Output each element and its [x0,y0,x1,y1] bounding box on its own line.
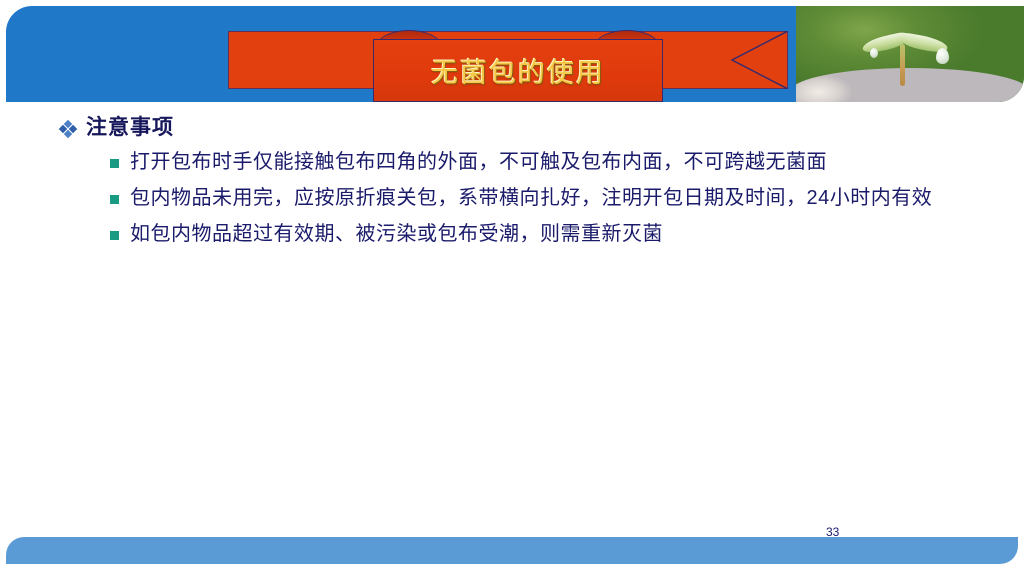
slide-title: 无菌包的使用 [431,51,605,90]
photo-waterdrop-small [870,48,878,58]
list-item: 包内物品未用完，应按原折痕关包，系带横向扎好，注明开包日期及时间，24小时内有效 [110,184,970,213]
photo-stem [900,44,905,86]
photo-pebbles [796,68,1024,102]
list-item: 如包内物品超过有效期、被污染或包布受潮，则需重新灭菌 [110,220,970,249]
slide-root: 无菌包的使用 注意事项 打开包布时手仅能接触包布四角的外面，不可触及包布内面，不… [0,0,1024,576]
diamond-bullet-icon [60,121,76,137]
footer-bar [6,537,1018,564]
square-bullet-icon [110,159,119,168]
list-item-text: 打开包布时手仅能接触包布四角的外面，不可触及包布内面，不可跨越无菌面 [130,148,827,177]
ribbon-title-plaque: 无菌包的使用 [373,39,663,102]
list-item-text: 如包内物品超过有效期、被污染或包布受潮，则需重新灭菌 [130,220,663,249]
header-photo [796,6,1024,102]
slide-content: 注意事项 打开包布时手仅能接触包布四角的外面，不可触及包布内面，不可跨越无菌面 … [60,116,970,256]
square-bullet-icon [110,195,119,204]
slide-header: 无菌包的使用 [6,6,1024,102]
list-item: 打开包布时手仅能接触包布四角的外面，不可触及包布内面，不可跨越无菌面 [110,148,970,177]
list-item-text: 包内物品未用完，应按原折痕关包，系带横向扎好，注明开包日期及时间，24小时内有效 [130,184,932,213]
square-bullet-icon [110,231,119,240]
content-heading-row: 注意事项 [60,116,970,140]
content-heading: 注意事项 [86,116,174,140]
photo-waterdrop [936,48,949,64]
bullet-list: 打开包布时手仅能接触包布四角的外面，不可触及包布内面，不可跨越无菌面 包内物品未… [60,148,970,249]
